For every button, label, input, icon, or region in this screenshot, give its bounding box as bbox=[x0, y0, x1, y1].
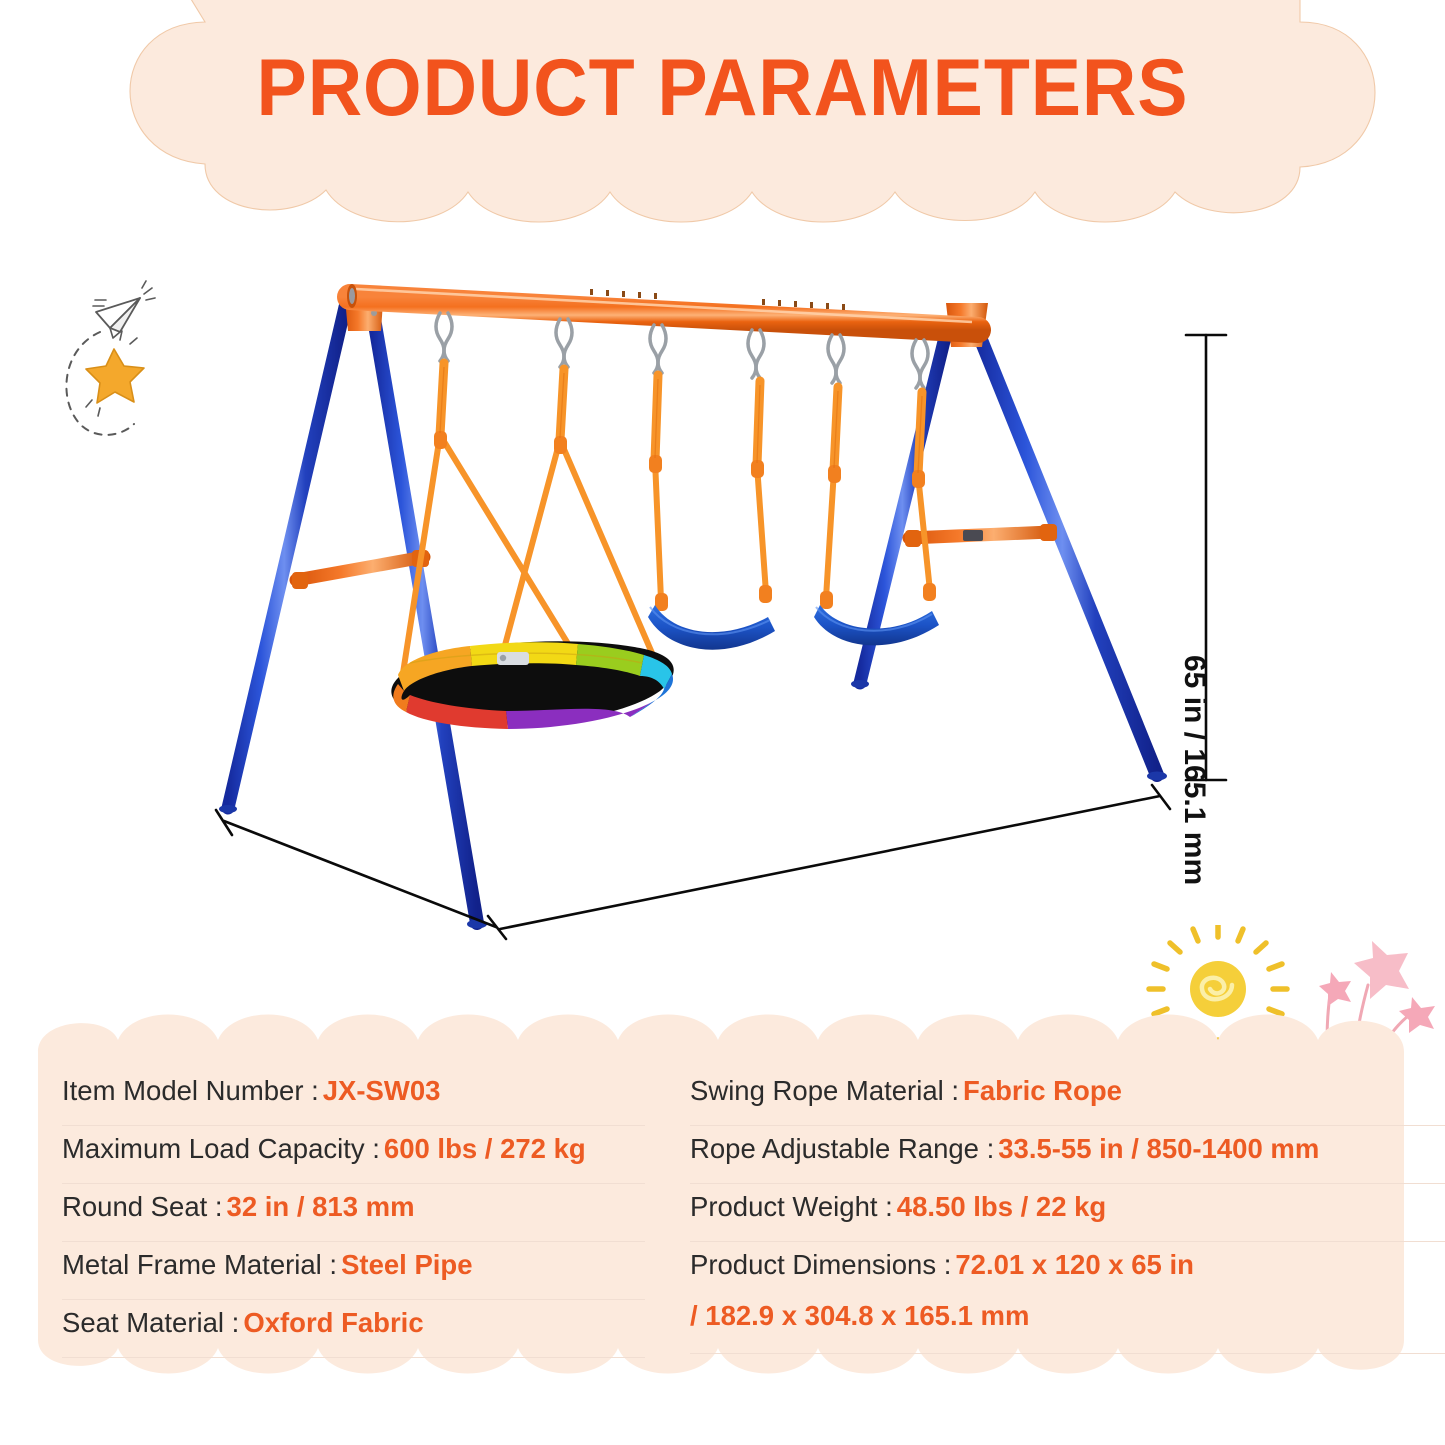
right-a-frame bbox=[851, 303, 1167, 781]
spec-value: 48.50 lbs / 22 kg bbox=[897, 1189, 1106, 1224]
star-icon bbox=[86, 331, 144, 416]
spec-row: Round Seat : 32 in / 813 mm bbox=[62, 1184, 645, 1242]
spec-row: Seat Material : Oxford Fabric bbox=[62, 1300, 645, 1358]
spec-key: Swing Rope Material : bbox=[690, 1073, 963, 1108]
spec-value: Fabric Rope bbox=[963, 1073, 1122, 1108]
spec-value: 600 lbs / 272 kg bbox=[384, 1131, 586, 1166]
spec-key: Rope Adjustable Range : bbox=[690, 1131, 998, 1166]
top-beam bbox=[347, 284, 978, 330]
spec-row: Product Dimensions : 72.01 x 120 x 65 in… bbox=[690, 1242, 1445, 1354]
flower-large bbox=[1354, 941, 1409, 999]
spec-row: Maximum Load Capacity : 600 lbs / 272 kg bbox=[62, 1126, 645, 1184]
header-cloud-banner: PRODUCT PARAMETERS bbox=[0, 0, 1445, 232]
product-image: 65 in / 165.1 mm 72.01 in / 182.9 mm 120… bbox=[0, 235, 1445, 995]
spec-key: Product Weight : bbox=[690, 1189, 897, 1224]
spec-row: Rope Adjustable Range : 33.5-55 in / 850… bbox=[690, 1126, 1445, 1184]
spec-value: 33.5-55 in / 850-1400 mm bbox=[998, 1131, 1319, 1166]
spec-key: Maximum Load Capacity : bbox=[62, 1131, 384, 1166]
spec-column-left: Item Model Number : JX-SW03 Maximum Load… bbox=[0, 1000, 645, 1420]
spec-value-line2: / 182.9 x 304.8 x 165.1 mm bbox=[690, 1294, 1445, 1333]
paper-plane-and-star-decoration bbox=[62, 276, 212, 446]
spec-key: Metal Frame Material : bbox=[62, 1247, 341, 1282]
spec-value: Oxford Fabric bbox=[243, 1305, 423, 1340]
spec-column-right: Swing Rope Material : Fabric Rope Rope A… bbox=[645, 1000, 1445, 1420]
spec-key: Seat Material : bbox=[62, 1305, 243, 1340]
paper-plane-icon bbox=[93, 281, 155, 338]
spec-row: Product Weight : 48.50 lbs / 22 kg bbox=[690, 1184, 1445, 1242]
rainbow-saucer-seat bbox=[391, 641, 673, 729]
belt-swing-left bbox=[648, 605, 775, 650]
dimension-label-height: 65 in / 165.1 mm bbox=[1177, 655, 1211, 885]
spec-value: JX-SW03 bbox=[323, 1073, 441, 1108]
spec-key: Item Model Number : bbox=[62, 1073, 323, 1108]
infographic-root: PRODUCT PARAMETERS bbox=[0, 0, 1445, 1445]
spec-value: 72.01 x 120 x 65 in bbox=[955, 1247, 1194, 1282]
spec-table: Item Model Number : JX-SW03 Maximum Load… bbox=[0, 1000, 1445, 1420]
spec-value: 32 in / 813 mm bbox=[227, 1189, 415, 1224]
spec-value: Steel Pipe bbox=[341, 1247, 472, 1282]
spec-row: Item Model Number : JX-SW03 bbox=[62, 1068, 645, 1126]
spec-key: Round Seat : bbox=[62, 1189, 227, 1224]
page-title: PRODUCT PARAMETERS bbox=[51, 48, 1395, 129]
spec-key: Product Dimensions : bbox=[690, 1247, 955, 1282]
spec-row: Metal Frame Material : Steel Pipe bbox=[62, 1242, 645, 1300]
spec-row: Swing Rope Material : Fabric Rope bbox=[690, 1068, 1445, 1126]
